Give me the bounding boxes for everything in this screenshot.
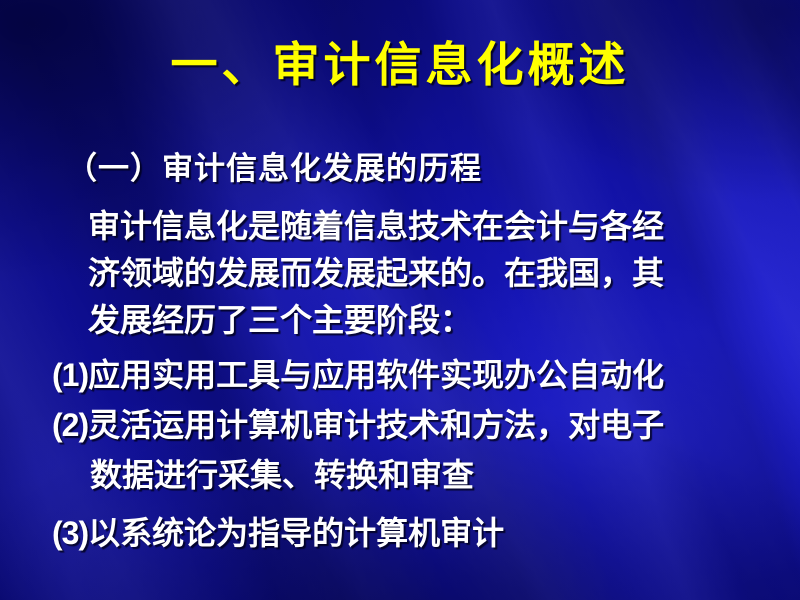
list-item: (2)灵活运用计算机审计技术和方法，对电子 数据进行采集、转换和审查: [52, 400, 792, 500]
numbered-stage-list: (1)应用实用工具与应用软件实现办公自动化 (2)灵活运用计算机审计技术和方法，…: [52, 350, 792, 558]
slide-title: 一、审计信息化概述: [0, 40, 800, 92]
list-item-marker: (1): [52, 357, 88, 393]
list-item-text: 以系统论为指导的计算机审计: [88, 514, 504, 552]
list-item-text: 灵活运用计算机审计技术和方法，对电子: [88, 406, 664, 444]
paragraph-line-3: 发展经历了三个主要阶段：: [88, 301, 472, 339]
list-item-marker: (3): [52, 515, 88, 551]
slide-content: 一、审计信息化概述 （一）审计信息化发展的历程 审计信息化是随着信息技术在会计与…: [0, 0, 800, 600]
presentation-slide: 一、审计信息化概述 （一）审计信息化发展的历程 审计信息化是随着信息技术在会计与…: [0, 0, 800, 600]
list-item-text: 应用实用工具与应用软件实现办公自动化: [88, 356, 664, 394]
paragraph-line-1: 审计信息化是随着信息技术在会计与各经: [88, 207, 664, 245]
paragraph-line-2: 济领域的发展而发展起来的。在我国，其: [88, 254, 664, 292]
section-subheading: （一）审计信息化发展的历程: [66, 143, 482, 188]
list-item-marker: (2): [52, 407, 88, 443]
list-spacer: [52, 500, 792, 508]
list-item-text-continued: 数据进行采集、转换和审查: [52, 450, 792, 500]
list-item: (1)应用实用工具与应用软件实现办公自动化: [52, 350, 792, 400]
body-paragraph: 审计信息化是随着信息技术在会计与各经 济领域的发展而发展起来的。在我国，其 发展…: [88, 203, 768, 344]
list-item: (3)以系统论为指导的计算机审计: [52, 508, 792, 558]
